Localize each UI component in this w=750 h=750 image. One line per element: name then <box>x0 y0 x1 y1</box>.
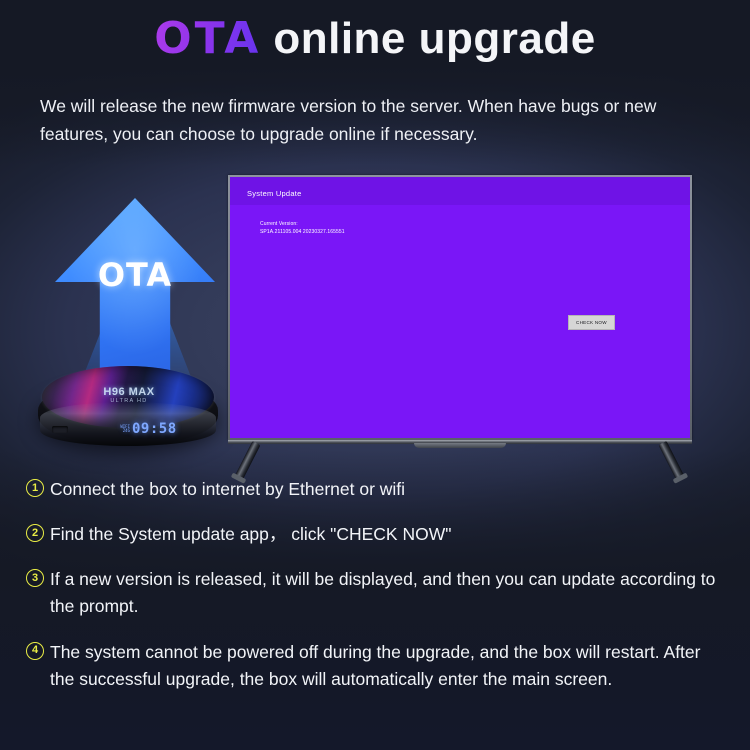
list-item: 2 Find the System update app， click "CHE… <box>26 521 726 548</box>
step-number-badge: 4 <box>26 642 44 660</box>
tv-box-device: H96 MAX ULTRA HD WIFI 24G 09:58 <box>36 362 222 458</box>
list-item: 3 If a new version is released, it will … <box>26 566 726 620</box>
step-text: Connect the box to internet by Ethernet … <box>50 476 405 503</box>
list-item: 1 Connect the box to internet by Etherne… <box>26 476 726 503</box>
step-number-badge: 2 <box>26 524 44 542</box>
page-title-accent: OTA <box>154 13 261 64</box>
page-title: OTAonline upgrade <box>0 14 750 65</box>
intro-paragraph: We will release the new firmware version… <box>40 92 722 149</box>
page-title-rest: online upgrade <box>273 14 595 63</box>
step-text: The system cannot be powered off during … <box>50 639 726 693</box>
check-now-button[interactable]: CHECK NOW <box>568 315 615 330</box>
tv-screen: System Update Current Version: SP1A.2111… <box>230 177 690 438</box>
tv-bezel: System Update Current Version: SP1A.2111… <box>228 175 692 440</box>
tv-chin <box>414 443 506 448</box>
device-clock-display: 09:58 <box>132 421 177 437</box>
ota-arrow-label: OTA <box>55 256 215 294</box>
device-port <box>52 426 68 433</box>
television: System Update Current Version: SP1A.2111… <box>228 175 692 460</box>
step-text: Find the System update app， click "CHECK… <box>50 521 451 548</box>
step-text: If a new version is released, it will be… <box>50 566 726 620</box>
steps-list: 1 Connect the box to internet by Etherne… <box>26 476 726 711</box>
current-version-block: Current Version: SP1A.211105.004 2023032… <box>260 221 345 237</box>
current-version-value: SP1A.211105.004 20230327.165551 <box>260 229 345 237</box>
device-clock-tag: WIFI 24G <box>114 425 130 433</box>
system-update-title: System Update <box>247 189 302 198</box>
device-brand-label: H96 MAX <box>36 386 222 398</box>
page-header: OTAonline upgrade <box>0 14 750 65</box>
step-number-badge: 1 <box>26 479 44 497</box>
step-number-badge: 3 <box>26 569 44 587</box>
ota-arrow-icon: OTA <box>55 198 215 373</box>
list-item: 4 The system cannot be powered off durin… <box>26 639 726 693</box>
current-version-label: Current Version: <box>260 221 345 229</box>
